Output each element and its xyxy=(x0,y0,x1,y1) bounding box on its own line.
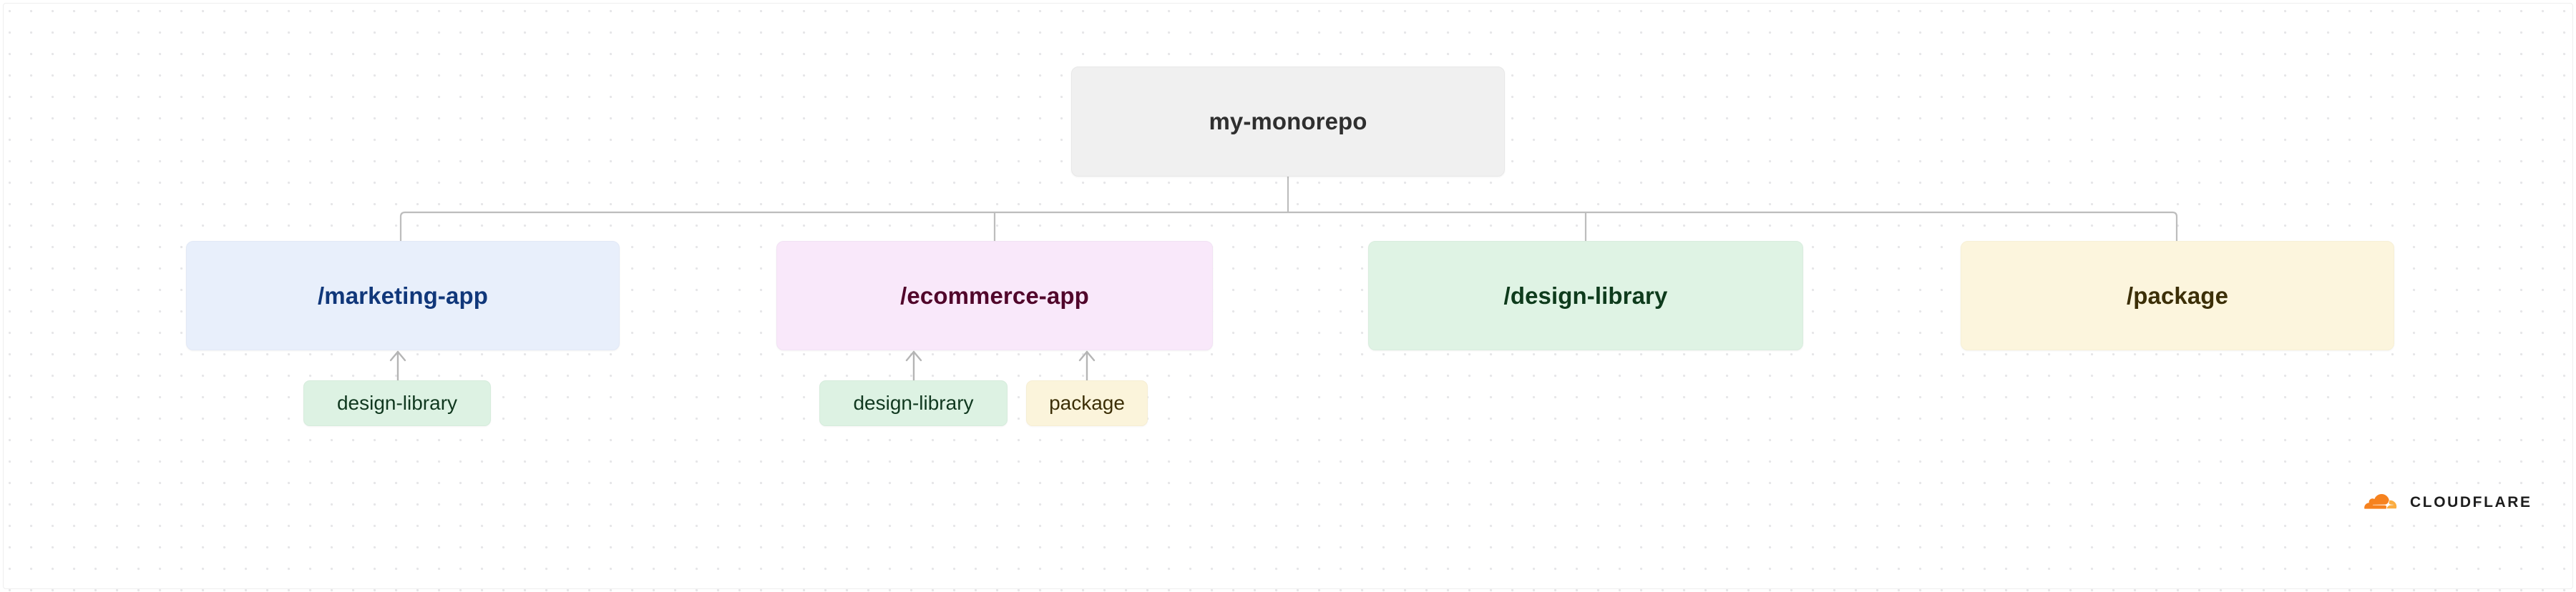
dependency-tag-label: design-library xyxy=(853,392,973,415)
edge-drop-marketing xyxy=(401,212,405,241)
dependency-tag-ecommerce-design-library[interactable]: design-library xyxy=(819,380,1008,426)
dependency-tag-marketing-design-library[interactable]: design-library xyxy=(303,380,491,426)
dependency-tag-label: package xyxy=(1049,392,1125,415)
dependency-tag-ecommerce-package[interactable]: package xyxy=(1026,380,1148,426)
edge-drop-package xyxy=(2172,212,2177,241)
node-package[interactable]: /package xyxy=(1961,241,2394,350)
node-label: /package xyxy=(2127,282,2228,310)
diagram-canvas: my-monorepo /marketing-app /ecommerce-ap… xyxy=(0,0,2576,592)
node-label: /design-library xyxy=(1504,282,1668,310)
cloudflare-wordmark: CLOUDFLARE xyxy=(2410,494,2532,511)
node-design-library[interactable]: /design-library xyxy=(1368,241,1803,350)
dependency-tag-label: design-library xyxy=(337,392,457,415)
node-marketing-app[interactable]: /marketing-app xyxy=(186,241,620,350)
node-label: /ecommerce-app xyxy=(900,282,1089,310)
cloudflare-logo: CLOUDFLARE xyxy=(2363,493,2532,512)
node-ecommerce-app[interactable]: /ecommerce-app xyxy=(776,241,1213,350)
cloudflare-cloud-icon xyxy=(2363,493,2403,512)
node-my-monorepo[interactable]: my-monorepo xyxy=(1071,66,1505,177)
node-label: my-monorepo xyxy=(1209,108,1367,135)
node-label: /marketing-app xyxy=(318,282,488,310)
